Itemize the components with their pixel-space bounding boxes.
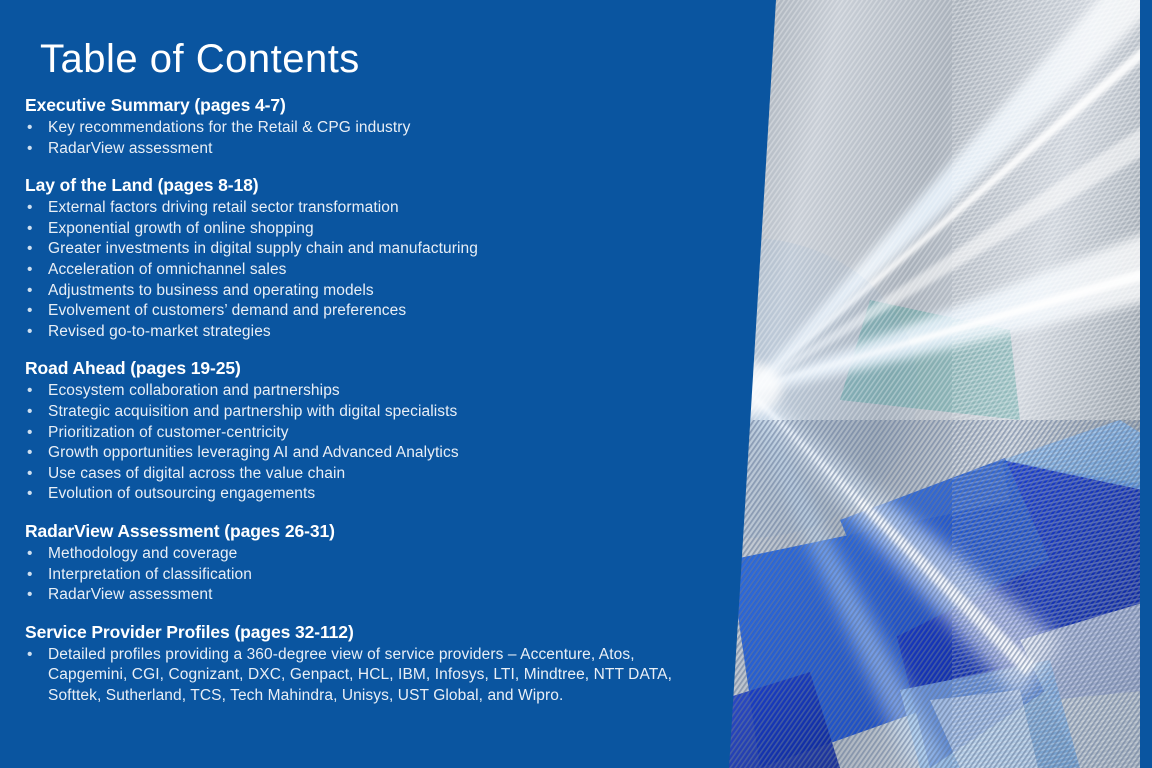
bullet-dot-icon: • (27, 139, 33, 160)
list-item-text: Evolvement of customers’ demand and pref… (48, 302, 406, 319)
section-bullet-list: • Detailed profiles providing a 360-degr… (25, 645, 755, 707)
list-item-text: Detailed profiles providing a 360-degree… (48, 646, 672, 704)
list-item: • Adjustments to business and operating … (25, 281, 755, 302)
list-item-text: Greater investments in digital supply ch… (48, 240, 478, 257)
bullet-dot-icon: • (27, 402, 33, 423)
list-item-text: Evolution of outsourcing engagements (48, 485, 315, 502)
list-item-text: Key recommendations for the Retail & CPG… (48, 119, 410, 136)
list-item: • Methodology and coverage (25, 544, 755, 565)
section-bullet-list: • Key recommendations for the Retail & C… (25, 118, 755, 159)
list-item-text: Growth opportunities leveraging AI and A… (48, 444, 459, 461)
toc-section-radarview-assessment: RadarView Assessment (pages 26-31) • Met… (25, 521, 755, 606)
toc-section-executive-summary: Executive Summary (pages 4-7) • Key reco… (25, 95, 755, 159)
section-bullet-list: • Ecosystem collaboration and partnershi… (25, 381, 755, 505)
bullet-dot-icon: • (27, 423, 33, 444)
list-item: • Evolution of outsourcing engagements (25, 484, 755, 505)
section-bullet-list: • External factors driving retail sector… (25, 198, 755, 342)
list-item-text: Ecosystem collaboration and partnerships (48, 382, 340, 399)
list-item: • Revised go-to-market strategies (25, 322, 755, 343)
section-heading: Executive Summary (pages 4-7) (25, 95, 755, 116)
bullet-dot-icon: • (27, 198, 33, 219)
list-item: • External factors driving retail sector… (25, 198, 755, 219)
bullet-dot-icon: • (27, 322, 33, 343)
list-item: • Exponential growth of online shopping (25, 219, 755, 240)
list-item: • Acceleration of omnichannel sales (25, 260, 755, 281)
list-item-text: RadarView assessment (48, 586, 213, 603)
list-item: • Key recommendations for the Retail & C… (25, 118, 755, 139)
bullet-dot-icon: • (27, 544, 33, 565)
section-heading: RadarView Assessment (pages 26-31) (25, 521, 755, 542)
list-item: • Use cases of digital across the value … (25, 464, 755, 485)
list-item-text: Methodology and coverage (48, 545, 237, 562)
section-bullet-list: • Methodology and coverage • Interpretat… (25, 544, 755, 606)
list-item: • RadarView assessment (25, 585, 755, 606)
list-item-text: RadarView assessment (48, 140, 213, 157)
section-heading: Road Ahead (pages 19-25) (25, 358, 755, 379)
list-item-text: External factors driving retail sector t… (48, 199, 399, 216)
bullet-dot-icon: • (27, 464, 33, 485)
list-item: • Detailed profiles providing a 360-degr… (25, 645, 755, 707)
list-item-text: Prioritization of customer-centricity (48, 424, 289, 441)
hatch-overlay-dark (720, 420, 1152, 768)
bullet-dot-icon: • (27, 260, 33, 281)
section-heading: Service Provider Profiles (pages 32-112) (25, 622, 755, 643)
list-item-text: Interpretation of classification (48, 566, 252, 583)
bullet-dot-icon: • (27, 239, 33, 260)
list-item-text: Strategic acquisition and partnership wi… (48, 403, 457, 420)
bullet-dot-icon: • (27, 585, 33, 606)
bullet-dot-icon: • (27, 645, 33, 666)
section-heading: Lay of the Land (pages 8-18) (25, 175, 755, 196)
list-item-text: Adjustments to business and operating mo… (48, 282, 374, 299)
list-item-text: Exponential growth of online shopping (48, 220, 314, 237)
bullet-dot-icon: • (27, 443, 33, 464)
list-item: • RadarView assessment (25, 139, 755, 160)
list-item: • Growth opportunities leveraging AI and… (25, 443, 755, 464)
list-item-text: Revised go-to-market strategies (48, 323, 271, 340)
bullet-dot-icon: • (27, 301, 33, 322)
toc-section-service-provider-profiles: Service Provider Profiles (pages 32-112)… (25, 622, 755, 707)
bullet-dot-icon: • (27, 565, 33, 586)
page-title: Table of Contents (40, 36, 360, 82)
bullet-dot-icon: • (27, 281, 33, 302)
list-item-text: Use cases of digital across the value ch… (48, 465, 345, 482)
light-burst-svg (720, 0, 1152, 768)
bullet-dot-icon: • (27, 118, 33, 139)
list-item: • Ecosystem collaboration and partnershi… (25, 381, 755, 402)
decorative-light-burst-graphic (720, 0, 1152, 768)
bullet-dot-icon: • (27, 219, 33, 240)
right-edge-strip (1140, 0, 1152, 768)
toc-sections: Executive Summary (pages 4-7) • Key reco… (25, 95, 755, 706)
list-item: • Interpretation of classification (25, 565, 755, 586)
toc-section-lay-of-the-land: Lay of the Land (pages 8-18) • External … (25, 175, 755, 342)
list-item: • Evolvement of customers’ demand and pr… (25, 301, 755, 322)
toc-section-road-ahead: Road Ahead (pages 19-25) • Ecosystem col… (25, 358, 755, 505)
bullet-dot-icon: • (27, 381, 33, 402)
bullet-dot-icon: • (27, 484, 33, 505)
slide-content: Table of Contents Executive Summary (pag… (0, 0, 760, 768)
list-item: • Prioritization of customer-centricity (25, 423, 755, 444)
list-item: • Greater investments in digital supply … (25, 239, 755, 260)
list-item-text: Acceleration of omnichannel sales (48, 261, 287, 278)
list-item: • Strategic acquisition and partnership … (25, 402, 755, 423)
